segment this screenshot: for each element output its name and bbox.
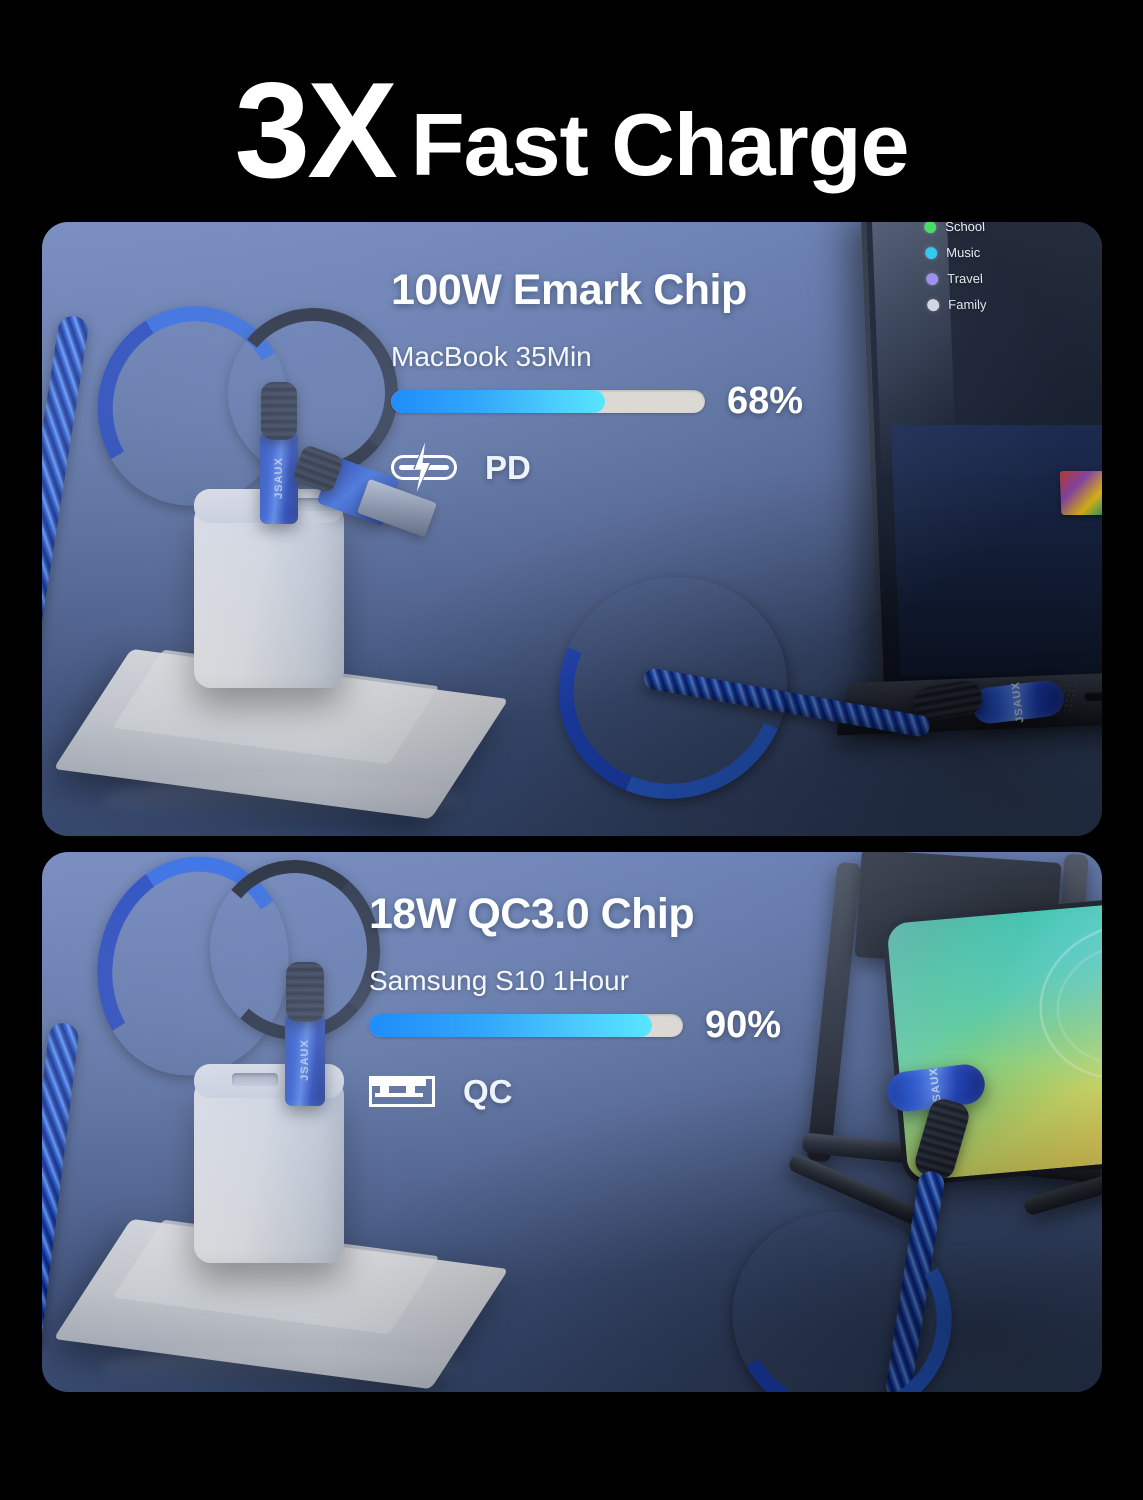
charge-progress: 90% bbox=[369, 1004, 839, 1047]
progress-track bbox=[369, 1014, 683, 1037]
chip-title: 100W Emark Chip bbox=[391, 266, 861, 315]
charge-progress: 68% bbox=[391, 380, 861, 423]
progress-percent: 68% bbox=[727, 380, 803, 423]
braided-cable-arc bbox=[525, 543, 821, 833]
sidebar-item-label: Travel bbox=[947, 271, 983, 286]
cable-strain-relief bbox=[286, 962, 324, 1022]
standard-label: QC bbox=[463, 1073, 513, 1111]
charger-brick bbox=[194, 503, 344, 688]
usb-c-bolt-icon bbox=[391, 451, 463, 485]
sidebar-item-music: Music bbox=[925, 245, 1046, 260]
headline-text: Fast Charge bbox=[411, 95, 909, 194]
sidebar-item-label: School bbox=[945, 222, 985, 234]
usb-a-contact-pin bbox=[406, 1086, 415, 1093]
feature-panel-pd: School Music Travel Family bbox=[42, 222, 1102, 836]
color-dot-icon bbox=[927, 299, 939, 311]
brand-label: JSAUX bbox=[299, 1039, 311, 1081]
charger-usb-slot bbox=[232, 1073, 278, 1086]
color-dot-icon bbox=[925, 247, 937, 259]
laptop-screen: School Music Travel Family bbox=[860, 222, 1102, 700]
feature-info-qc: 18W QC3.0 Chip Samsung S10 1Hour 90% QC bbox=[369, 890, 839, 1111]
feature-info-pd: 100W Emark Chip MacBook 35Min 68% PD bbox=[391, 266, 861, 487]
sidebar-item-label: Family bbox=[948, 297, 987, 312]
color-dot-icon bbox=[926, 273, 938, 285]
device-label: Samsung S10 1Hour bbox=[369, 965, 839, 997]
progress-track bbox=[391, 390, 705, 413]
platform-reflection bbox=[102, 1348, 462, 1388]
progress-fill bbox=[369, 1014, 652, 1037]
cable-connector-charger: JSAUX bbox=[285, 1014, 325, 1106]
progress-fill bbox=[391, 390, 605, 413]
charging-standard: PD bbox=[391, 449, 861, 487]
cable-strain-relief bbox=[261, 382, 297, 440]
chip-title: 18W QC3.0 Chip bbox=[369, 890, 839, 939]
phone-screen-gloss bbox=[886, 899, 1102, 1181]
platform-reflection bbox=[102, 778, 462, 822]
charger-brick bbox=[194, 1078, 344, 1263]
cable-connector-charger: JSAUX bbox=[260, 432, 298, 524]
sidebar-item-label: Music bbox=[946, 245, 981, 260]
braided-cable bbox=[42, 314, 90, 674]
charging-standard: QC bbox=[369, 1073, 839, 1111]
sidebar-item-family: Family bbox=[927, 297, 1048, 312]
page-title: 3XFast Charge bbox=[0, 62, 1143, 198]
laptop-usb-port bbox=[1084, 692, 1102, 701]
usb-a-top-bar bbox=[372, 1079, 426, 1086]
laptop-wallpaper bbox=[891, 425, 1102, 675]
usb-a-port-icon bbox=[369, 1075, 441, 1109]
progress-percent: 90% bbox=[705, 1004, 781, 1047]
sidebar-item-travel: Travel bbox=[926, 271, 1047, 286]
device-label: MacBook 35Min bbox=[391, 341, 861, 373]
product-feature-image: 3XFast Charge School Music bbox=[0, 0, 1143, 1500]
brand-label: JSAUX bbox=[273, 457, 285, 499]
color-dot-icon bbox=[924, 222, 936, 233]
brand-label: JSAUX bbox=[1010, 681, 1027, 724]
usb-a-metal-tip bbox=[357, 479, 437, 537]
smartphone bbox=[881, 893, 1102, 1186]
headline-multiplier: 3X bbox=[235, 54, 395, 206]
laptop-calendar-sidebar: School Music Travel Family bbox=[924, 222, 1048, 323]
sidebar-item-school: School bbox=[924, 222, 1045, 234]
braided-cable bbox=[42, 1021, 80, 1352]
feature-panel-qc: JSAUX JSAUX bbox=[42, 852, 1102, 1392]
photo-thumbnail bbox=[1060, 471, 1102, 515]
usb-a-contact-pin bbox=[380, 1086, 389, 1093]
standard-label: PD bbox=[485, 449, 531, 487]
